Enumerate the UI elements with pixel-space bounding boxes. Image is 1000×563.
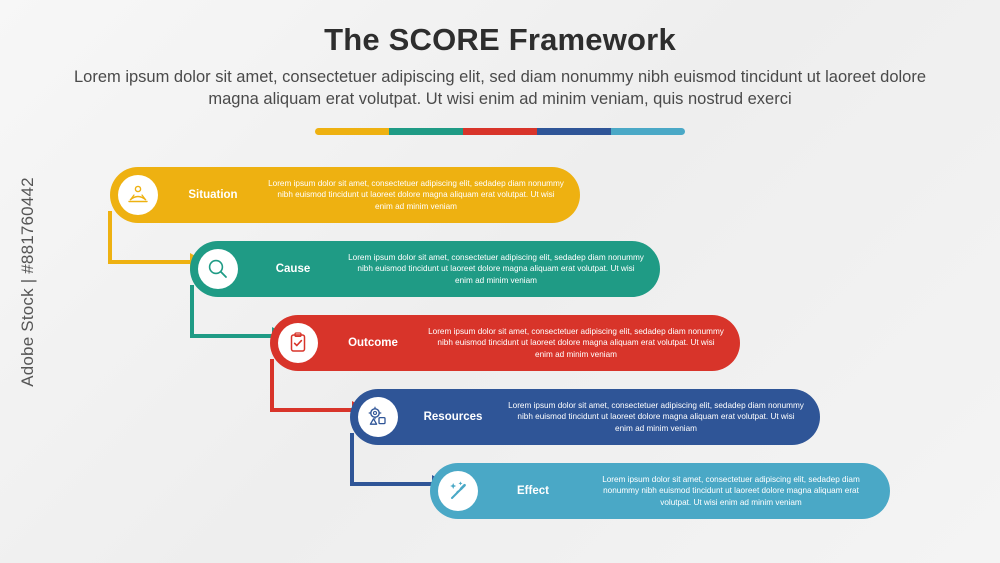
clipboard-check-icon — [278, 323, 318, 363]
person-meditating-icon — [118, 175, 158, 215]
score-row-description: Lorem ipsum dolor sit amet, consectetuer… — [508, 400, 820, 434]
gear-shapes-icon — [358, 397, 398, 437]
score-rows: Situation Lorem ipsum dolor sit amet, co… — [0, 0, 1000, 563]
score-row-description: Lorem ipsum dolor sit amet, consectetuer… — [348, 252, 660, 286]
score-row-outcome[interactable]: Outcome Lorem ipsum dolor sit amet, cons… — [270, 315, 740, 371]
score-row-cause[interactable]: Cause Lorem ipsum dolor sit amet, consec… — [190, 241, 660, 297]
slide-canvas: Adobe Stock | #881760442 The SCORE Frame… — [0, 0, 1000, 563]
magnifier-icon — [198, 249, 238, 289]
score-row-effect[interactable]: Effect Lorem ipsum dolor sit amet, conse… — [430, 463, 890, 519]
score-row-label: Effect — [478, 485, 588, 497]
score-row-description: Lorem ipsum dolor sit amet, consectetuer… — [428, 326, 740, 360]
score-row-description: Lorem ipsum dolor sit amet, consectetuer… — [268, 178, 580, 212]
score-row-description: Lorem ipsum dolor sit amet, consectetuer… — [588, 474, 890, 508]
score-row-situation[interactable]: Situation Lorem ipsum dolor sit amet, co… — [110, 167, 580, 223]
magic-wand-icon — [438, 471, 478, 511]
score-row-label: Outcome — [318, 337, 428, 349]
score-row-label: Cause — [238, 263, 348, 275]
score-row-resources[interactable]: Resources Lorem ipsum dolor sit amet, co… — [350, 389, 820, 445]
score-row-label: Resources — [398, 411, 508, 423]
score-row-label: Situation — [158, 189, 268, 201]
